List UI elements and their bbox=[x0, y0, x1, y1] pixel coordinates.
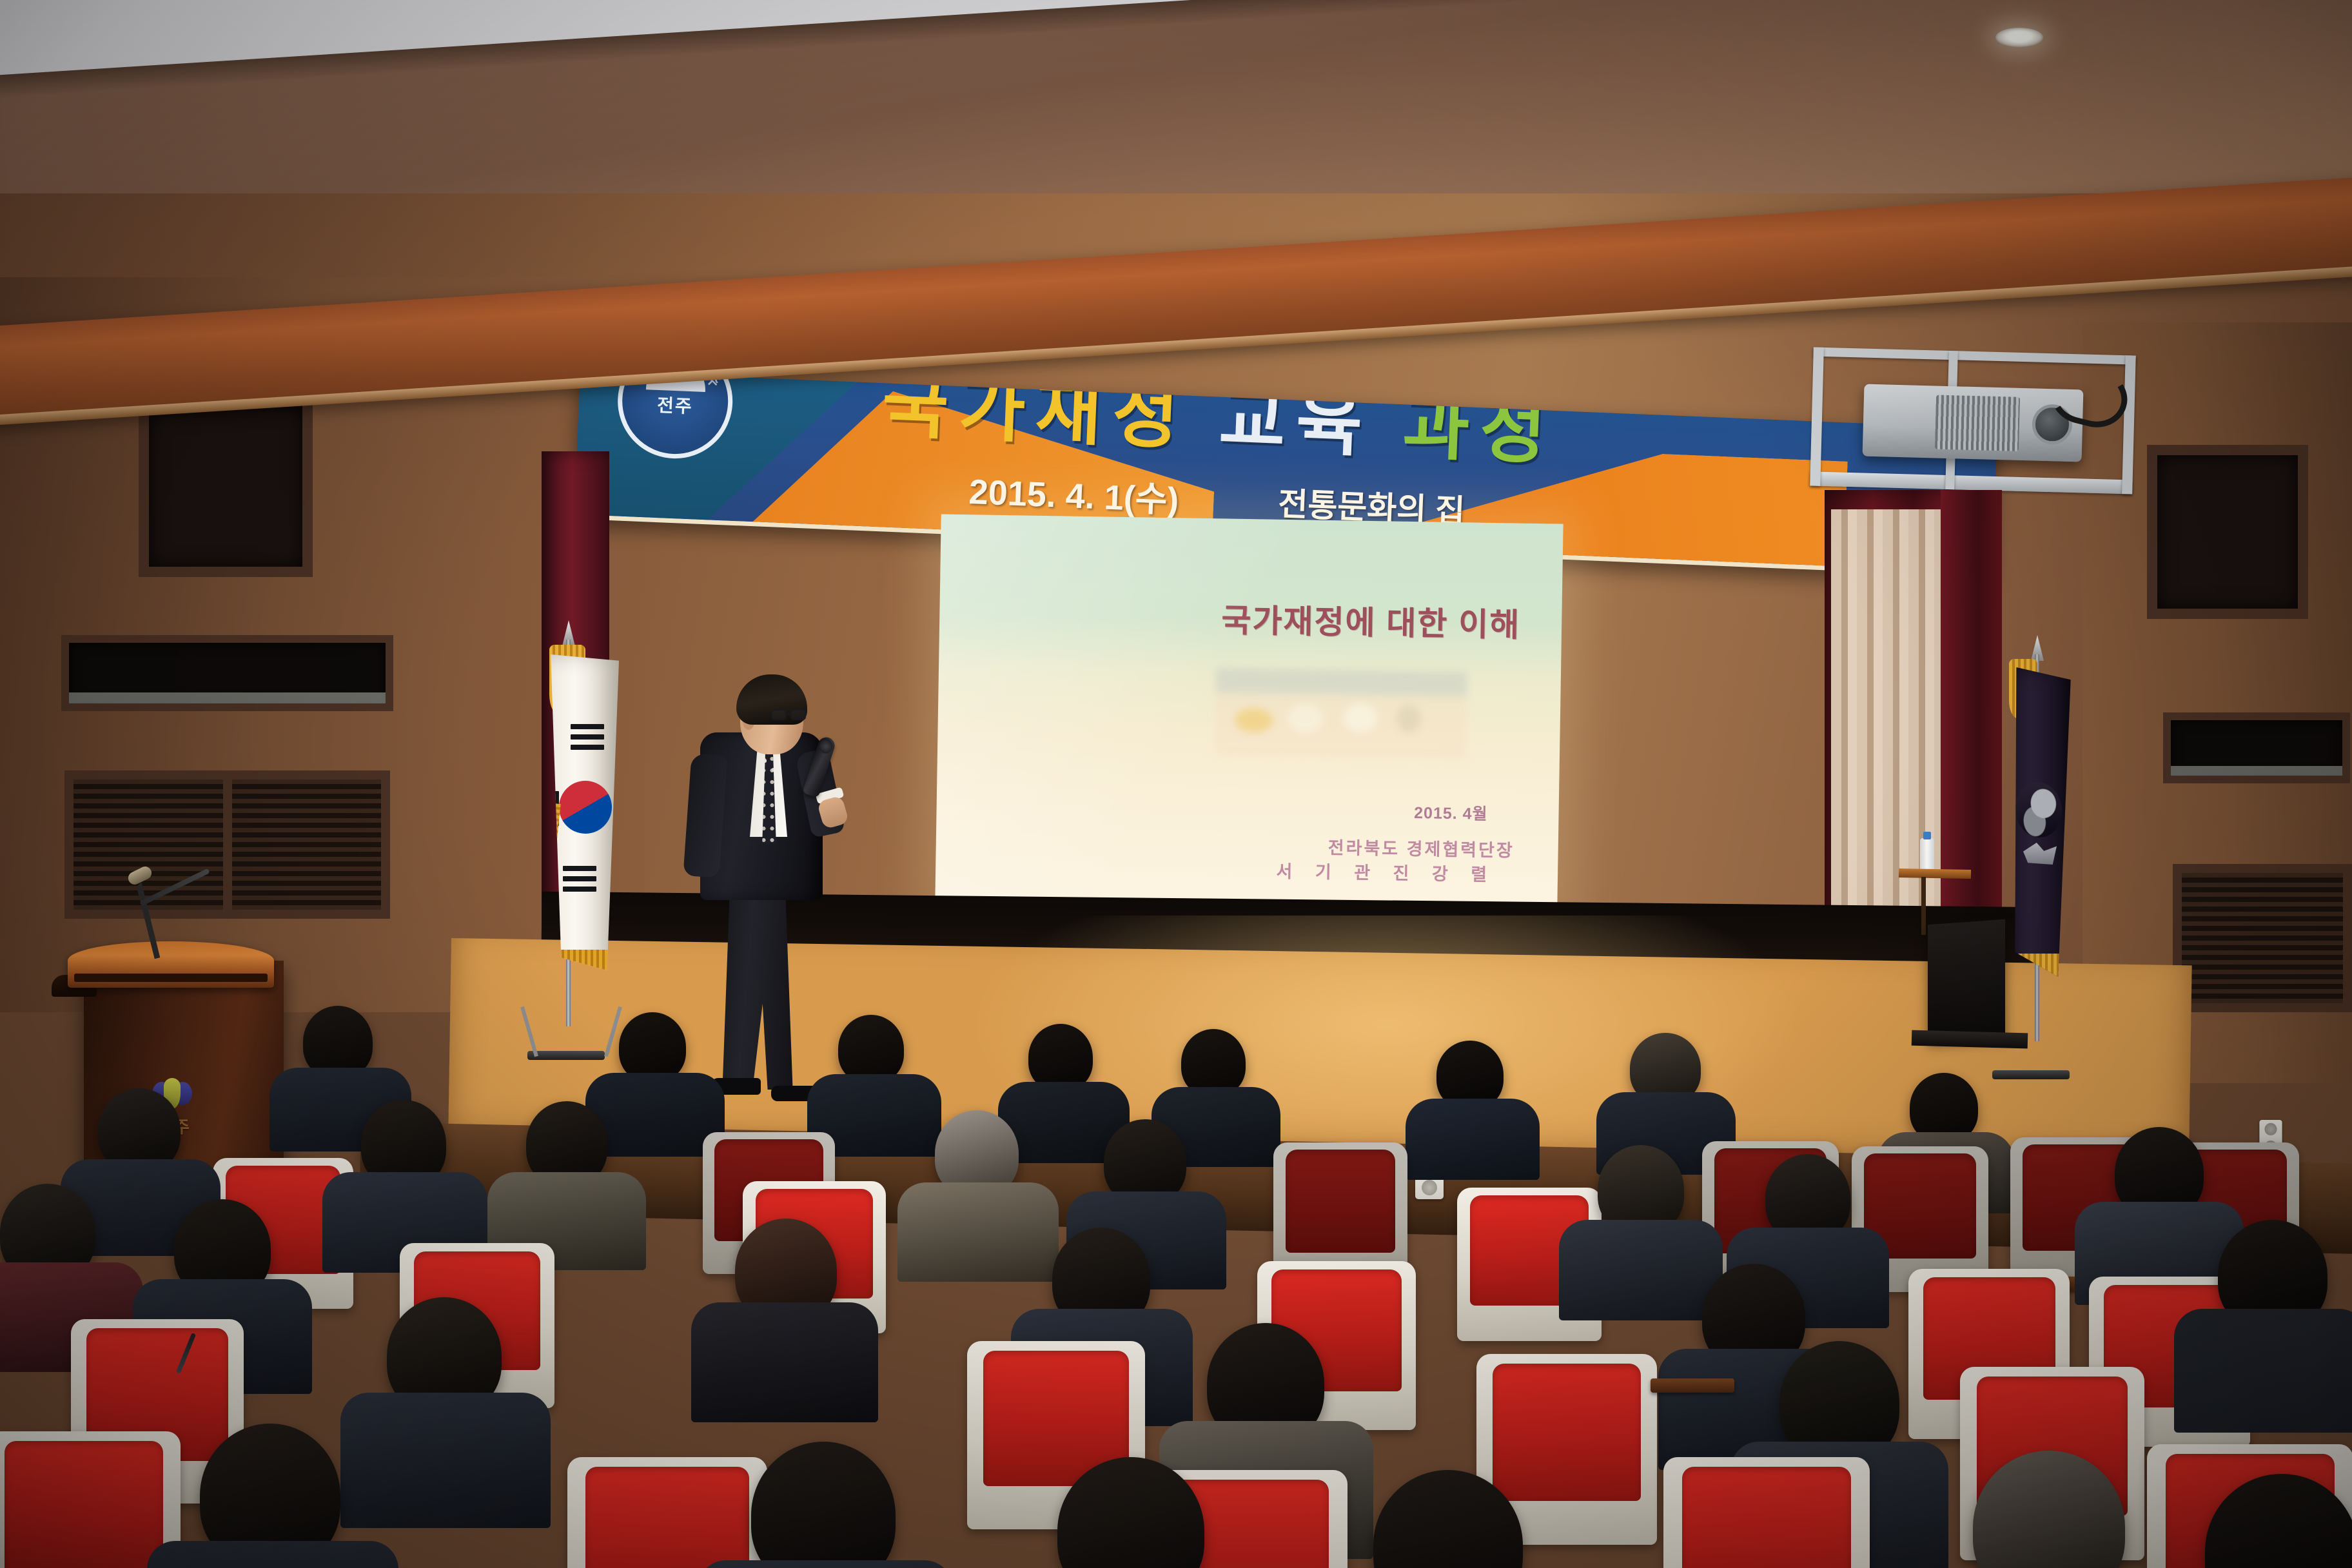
audience-shoulders bbox=[340, 1393, 551, 1528]
seat-cushion bbox=[1286, 1150, 1396, 1253]
audience-head bbox=[838, 1015, 904, 1083]
glasses-lens-right bbox=[790, 709, 806, 720]
slide-date: 2015. 4월 bbox=[936, 792, 1487, 824]
trigram-bar bbox=[563, 887, 596, 892]
auditorium-scene: 전 주 전주 국가재정 교육 과정 2015. 4. 1(수) 전통문화의 집 … bbox=[0, 0, 2352, 1568]
projection-screen: 국가재정에 대한 이해 2015. 4월 전라북도 경제협력단장 서 기 관 진… bbox=[935, 514, 1563, 910]
side-table bbox=[1899, 868, 1971, 879]
wall-louver-vent-right bbox=[2173, 864, 2352, 1012]
wall-slot-window-left bbox=[61, 635, 393, 711]
seat-cushion bbox=[5, 1441, 163, 1568]
seat-tablet-arm bbox=[1651, 1378, 1734, 1393]
downlight-icon bbox=[1995, 28, 2043, 47]
audience-seat bbox=[0, 1431, 181, 1568]
audience-shoulders bbox=[147, 1541, 398, 1568]
institution-emblem-lower bbox=[2023, 843, 2057, 865]
audience-head bbox=[619, 1012, 686, 1082]
louver-slats bbox=[2182, 873, 2343, 1003]
trigram-bar bbox=[563, 866, 596, 871]
trigram-bar bbox=[571, 734, 604, 740]
taeguk-circle-icon bbox=[555, 777, 616, 838]
trigram-bar bbox=[563, 876, 596, 881]
glasses-lens-left bbox=[771, 709, 787, 720]
seat-cushion bbox=[1493, 1364, 1641, 1501]
presentation-slide: 국가재정에 대한 이해 2015. 4월 전라북도 경제협력단장 서 기 관 진… bbox=[935, 514, 1563, 910]
audience-shoulders bbox=[1406, 1099, 1540, 1180]
audience-shoulders bbox=[691, 1302, 878, 1422]
audience-head bbox=[1181, 1029, 1246, 1096]
audience-shoulders bbox=[2174, 1309, 2352, 1433]
slot-sill bbox=[69, 692, 386, 703]
audience-shoulders bbox=[1559, 1220, 1723, 1320]
audience-head bbox=[751, 1442, 896, 1568]
emblem-label: 전주 bbox=[656, 391, 693, 418]
trigram-bar bbox=[571, 745, 604, 750]
louver-divider bbox=[223, 779, 232, 910]
trigram-bar bbox=[571, 724, 604, 729]
side-table-leg bbox=[1921, 877, 1926, 935]
banner-date: 2015. 4. 1(수) bbox=[968, 463, 1180, 522]
projector-vent-grill bbox=[1935, 395, 2020, 451]
audience-shoulders bbox=[698, 1560, 953, 1568]
wall-dark-square-right bbox=[2147, 445, 2308, 619]
audience-area bbox=[0, 1006, 2352, 1568]
institution-emblem-icon bbox=[2012, 779, 2065, 840]
audience-shoulders bbox=[897, 1182, 1059, 1282]
slide-photo-image bbox=[1215, 668, 1467, 759]
wall-dark-square-left bbox=[139, 393, 313, 577]
glasses-bridge bbox=[787, 713, 791, 715]
podium-reading-surface bbox=[68, 941, 274, 988]
seat-cushion bbox=[1682, 1467, 1851, 1568]
slot-sill bbox=[2171, 766, 2342, 776]
audience-head bbox=[1028, 1024, 1093, 1091]
audience-seat bbox=[567, 1457, 767, 1568]
wall-louver-vent-left bbox=[64, 770, 390, 919]
slide-title: 국가재정에 대한 이해 bbox=[939, 590, 1521, 645]
seat-cushion bbox=[585, 1467, 749, 1568]
wall-slot-window-right bbox=[2163, 712, 2350, 783]
audience-seat bbox=[1663, 1457, 1870, 1568]
presenter-glasses-icon bbox=[771, 709, 806, 721]
